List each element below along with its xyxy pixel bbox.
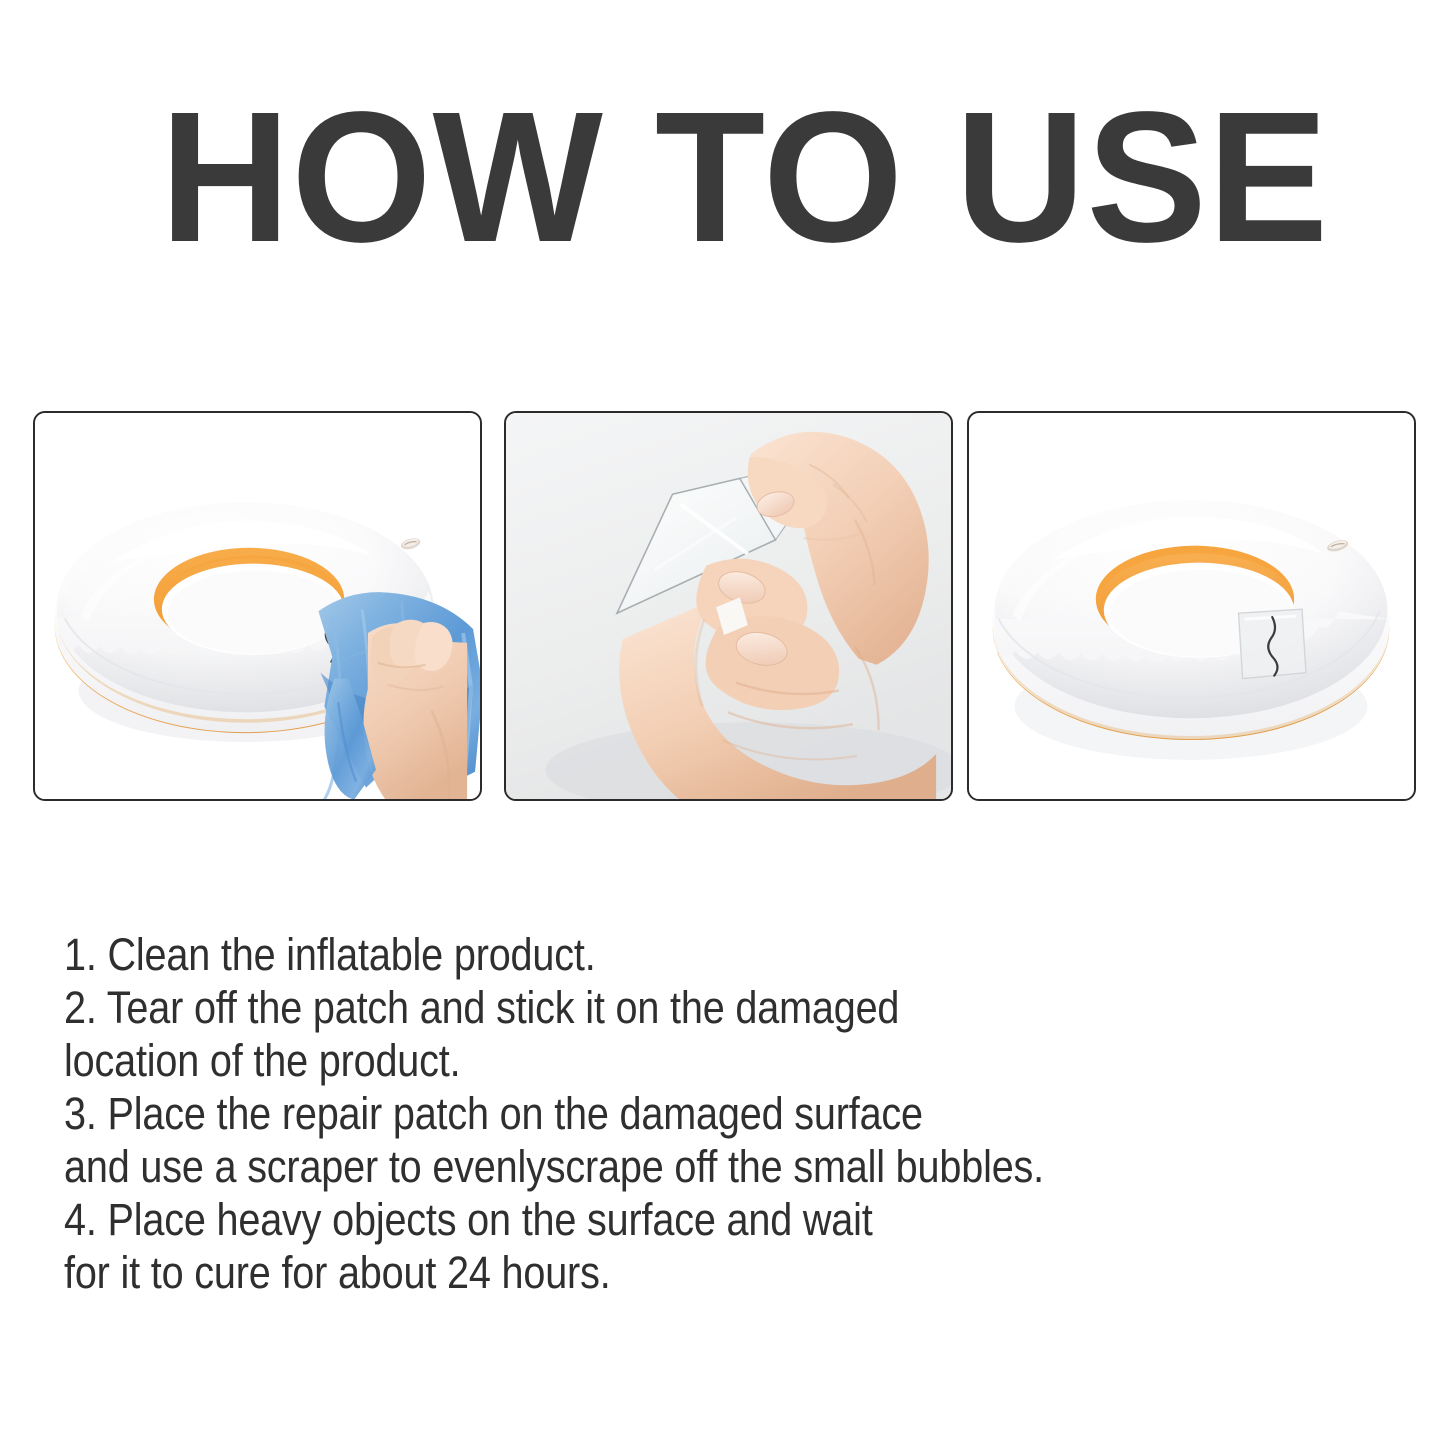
hands-peeling-patch-illustration <box>506 413 951 800</box>
inflatable-ring-cleaning-illustration <box>35 413 480 800</box>
peel-the-patch-panel <box>504 411 953 801</box>
steps-image-row <box>0 411 1445 803</box>
instruction-line-4: 3. Place the repair patch on the damaged… <box>64 1087 1243 1140</box>
instruction-line-3: location of the product. <box>64 1034 1243 1087</box>
clean-the-product-panel <box>33 411 482 801</box>
instructions-list: 1. Clean the inflatable product. 2. Tear… <box>64 928 1404 1299</box>
patch-applied-panel <box>967 411 1416 801</box>
instruction-line-1: 1. Clean the inflatable product. <box>64 928 1243 981</box>
ring-with-applied-patch-illustration <box>969 413 1414 800</box>
instruction-line-2: 2. Tear off the patch and stick it on th… <box>64 981 1243 1034</box>
instruction-line-7: for it to cure for about 24 hours. <box>64 1246 1243 1299</box>
page-title: HOW TO USE <box>160 88 1324 268</box>
instruction-line-5: and use a scraper to evenlyscrape off th… <box>64 1140 1243 1193</box>
hand-icon <box>363 620 467 800</box>
instruction-line-6: 4. Place heavy objects on the surface an… <box>64 1193 1243 1246</box>
